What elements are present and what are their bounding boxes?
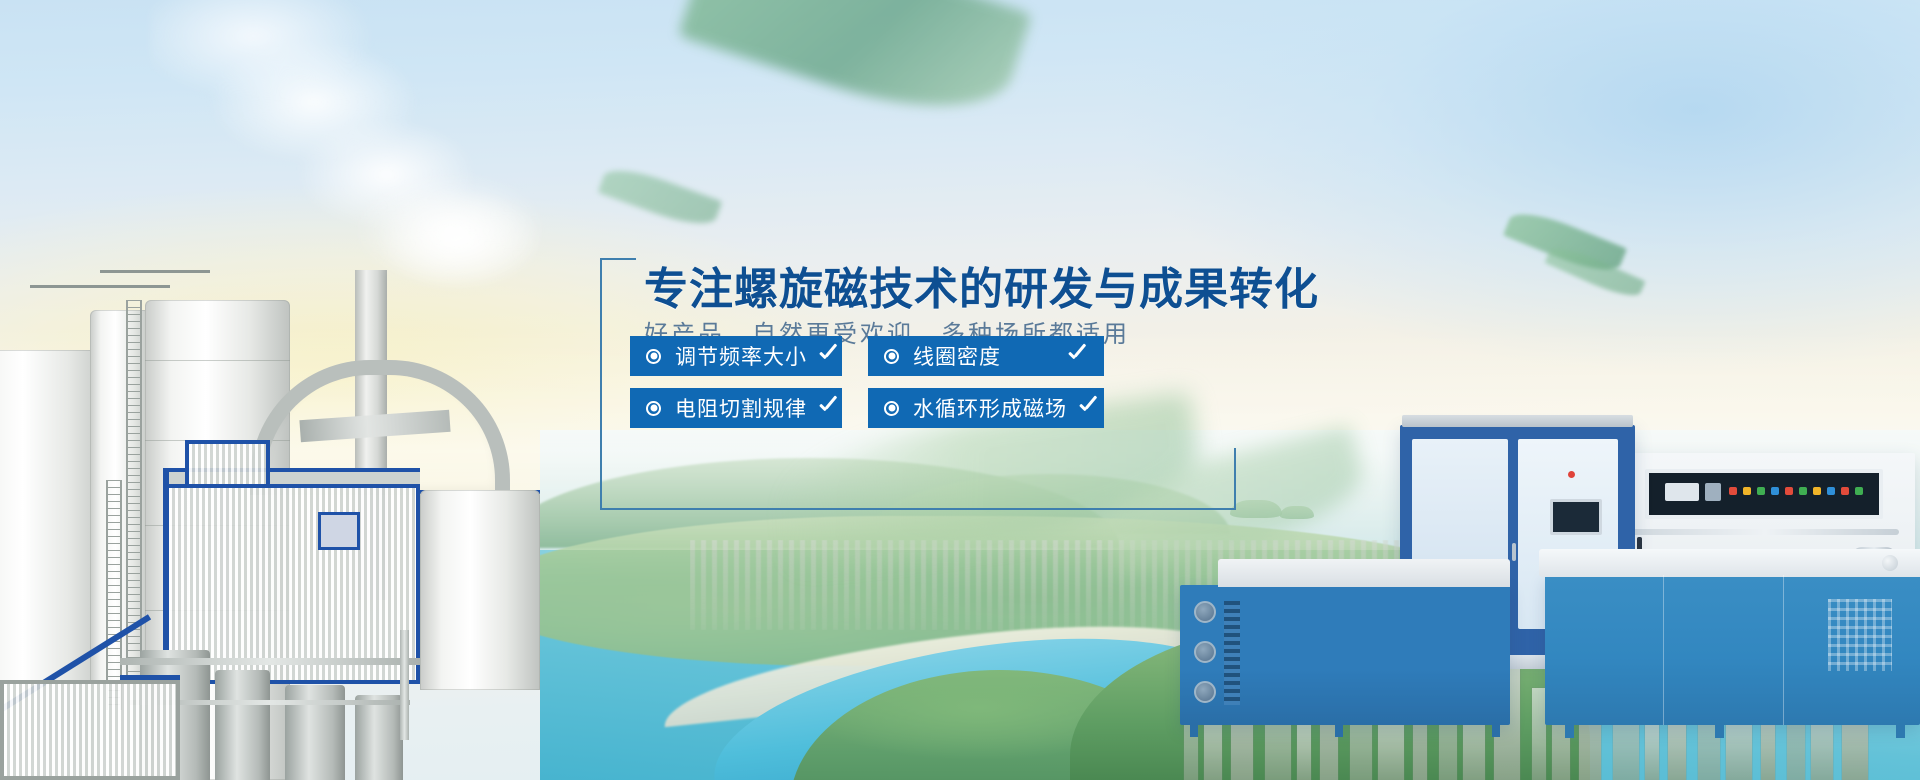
water-chiller [1180,585,1510,725]
feature-item-0[interactable]: 调节频率大小 [630,336,842,376]
check-icon [1066,345,1088,367]
machine-group [1180,385,1920,725]
industrial-plant-illustration [0,240,560,780]
feature-label: 调节频率大小 [675,341,807,371]
radio-dot-icon [646,349,661,364]
feature-item-3[interactable]: 水循环形成磁场 [868,388,1104,428]
leaf-icon [1544,241,1645,304]
feature-label: 线圈密度 [913,341,1056,371]
bracket-left-line [600,258,602,510]
leaf-icon [1503,204,1627,280]
check-icon [817,345,839,367]
heating-unit [1545,575,1920,725]
leaf-icon [598,161,722,234]
hero-banner: 专注螺旋磁技术的研发与成果转化 好产品，自然更受欢迎，多种场所都适用 调节频率大… [0,0,1920,780]
bracket-right-line [1234,448,1236,510]
feature-item-2[interactable]: 电阻切割规律 [630,388,842,428]
check-icon [817,397,839,419]
radio-dot-icon [884,401,899,416]
bracket-top-line [600,258,636,260]
leaf-icon [678,0,1032,138]
radio-dot-icon [884,349,899,364]
radio-dot-icon [646,401,661,416]
check-icon [1077,397,1099,419]
page-title: 专注螺旋磁技术的研发与成果转化 [644,253,1319,317]
feature-item-1[interactable]: 线圈密度 [868,336,1104,376]
bracket-bottom-line [600,508,1236,510]
feature-label: 水循环形成磁场 [913,393,1067,423]
feature-label: 电阻切割规律 [675,393,807,423]
feature-list: 调节频率大小 线圈密度 电阻切割规律 水循环形成磁场 [630,336,1230,440]
